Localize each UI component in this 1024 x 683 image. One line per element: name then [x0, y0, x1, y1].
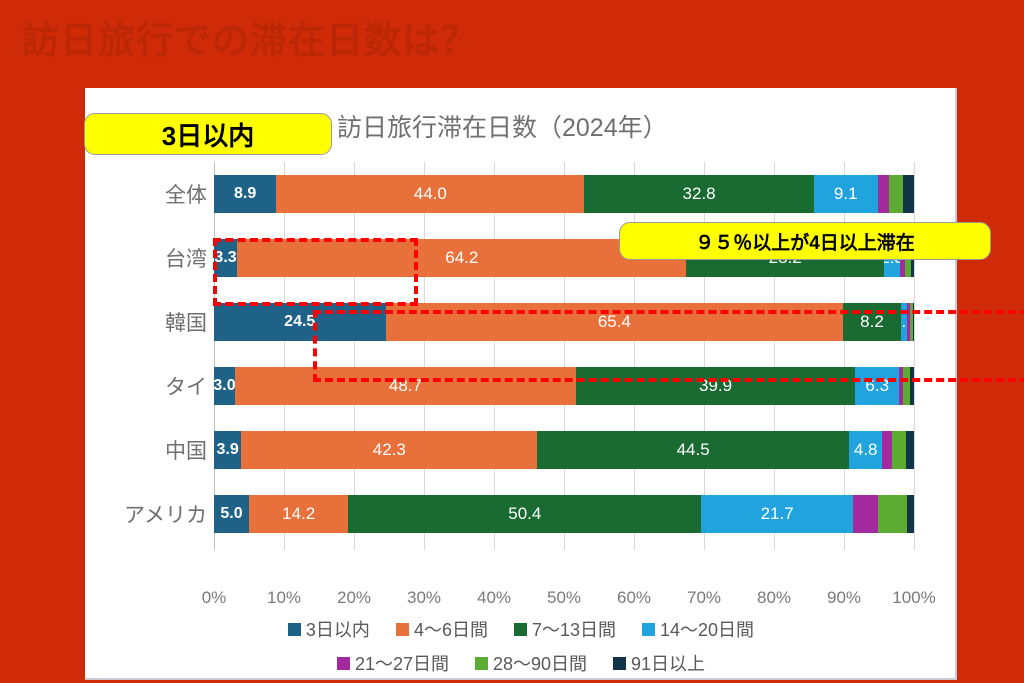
- stacked-bar[interactable]: 5.014.250.421.7: [214, 495, 914, 533]
- stacked-bar[interactable]: 24.565.48.20.9: [214, 303, 914, 341]
- legend-line: 3日以内4〜6日間7〜13日間14〜20日間: [85, 616, 957, 642]
- bar-segment[interactable]: [853, 495, 878, 533]
- x-tick-label: 10%: [267, 588, 301, 608]
- bar-segment[interactable]: [882, 431, 892, 469]
- bar-segment[interactable]: 39.9: [576, 367, 855, 405]
- bar-row-label: アメリカ: [95, 482, 207, 546]
- bar-row: 中国3.942.344.54.8: [85, 418, 957, 482]
- legend-item[interactable]: 3日以内: [288, 616, 370, 642]
- bar-segment[interactable]: [878, 495, 907, 533]
- bar-segment[interactable]: 50.4: [348, 495, 701, 533]
- bar-segment[interactable]: 3.3: [214, 239, 237, 277]
- chart-title: 訪日旅行滞在日数（2024年）: [337, 108, 668, 144]
- x-tick-label: 40%: [477, 588, 511, 608]
- legend-item[interactable]: 14〜20日間: [642, 616, 754, 642]
- x-tick-label: 0%: [202, 588, 227, 608]
- legend-label: 14〜20日間: [660, 616, 754, 642]
- bar-segment[interactable]: 44.0: [276, 175, 584, 213]
- bar-segment[interactable]: 5.0: [214, 495, 249, 533]
- x-tick-label: 70%: [687, 588, 721, 608]
- legend-label: 28〜90日間: [493, 650, 587, 676]
- slide-title: 訪日旅行での滞在日数は？: [22, 10, 478, 64]
- bar-segment[interactable]: 14.2: [249, 495, 348, 533]
- chart-panel: 3日以内 訪日旅行滞在日数（2024年） 全体8.944.032.89.1台湾3…: [85, 88, 957, 680]
- legend: 3日以内4〜6日間7〜13日間14〜20日間21〜27日間28〜90日間91日以…: [85, 616, 957, 683]
- x-tick-label: 30%: [407, 588, 441, 608]
- legend-label: 3日以内: [306, 616, 370, 642]
- legend-swatch-icon: [642, 623, 655, 636]
- bar-segment[interactable]: 44.5: [537, 431, 849, 469]
- bar-segment[interactable]: [906, 431, 914, 469]
- bar-row-label: 韓国: [95, 290, 207, 354]
- x-tick-label: 80%: [757, 588, 791, 608]
- legend-line: 21〜27日間28〜90日間91日以上: [85, 650, 957, 676]
- bar-segment[interactable]: 42.3: [241, 431, 537, 469]
- legend-swatch-icon: [337, 657, 350, 670]
- bar-segment[interactable]: 32.8: [584, 175, 814, 213]
- bar-segment[interactable]: [913, 303, 914, 341]
- bar-segment[interactable]: [903, 175, 914, 213]
- bar-row-label: 中国: [95, 418, 207, 482]
- x-tick-label: 50%: [547, 588, 581, 608]
- bar-segment[interactable]: [878, 175, 889, 213]
- bar-segment[interactable]: [892, 431, 905, 469]
- legend-item[interactable]: 91日以上: [613, 650, 705, 676]
- stacked-bar[interactable]: 3.942.344.54.8: [214, 431, 914, 469]
- bar-row: タイ3.048.739.96.3: [85, 354, 957, 418]
- legend-swatch-icon: [288, 623, 301, 636]
- chart-heading: 3日以内 訪日旅行滞在日数（2024年）: [85, 100, 955, 148]
- bar-segment[interactable]: 6.3: [855, 367, 899, 405]
- callout-3days: 3日以内: [84, 113, 332, 155]
- bar-segment[interactable]: 9.1: [814, 175, 878, 213]
- legend-label: 21〜27日間: [355, 650, 449, 676]
- stacked-bar[interactable]: 3.048.739.96.3: [214, 367, 914, 405]
- legend-item[interactable]: 21〜27日間: [337, 650, 449, 676]
- bar-row: 全体8.944.032.89.1: [85, 162, 957, 226]
- x-tick-label: 60%: [617, 588, 651, 608]
- legend-swatch-icon: [475, 657, 488, 670]
- bar-row-label: 全体: [95, 162, 207, 226]
- bar-rows: 全体8.944.032.89.1台湾3.364.228.22.3韓国24.565…: [85, 162, 957, 550]
- legend-item[interactable]: 7〜13日間: [514, 616, 616, 642]
- bar-row: アメリカ5.014.250.421.7: [85, 482, 957, 546]
- legend-swatch-icon: [514, 623, 527, 636]
- bar-segment[interactable]: 8.2: [843, 303, 900, 341]
- x-axis-ticks: 0%10%20%30%40%50%60%70%80%90%100%: [214, 588, 914, 618]
- bar-segment[interactable]: 3.0: [214, 367, 235, 405]
- legend-label: 7〜13日間: [532, 616, 616, 642]
- bar-segment[interactable]: 24.5: [214, 303, 386, 341]
- bar-row-label: 台湾: [95, 226, 207, 290]
- bar-row-label: タイ: [95, 354, 207, 418]
- legend-item[interactable]: 28〜90日間: [475, 650, 587, 676]
- bar-segment[interactable]: [907, 495, 914, 533]
- x-tick-label: 90%: [827, 588, 861, 608]
- bar-segment[interactable]: [903, 367, 910, 405]
- legend-swatch-icon: [613, 657, 626, 670]
- bar-segment[interactable]: [889, 175, 904, 213]
- bar-segment[interactable]: 4.8: [849, 431, 883, 469]
- bar-segment[interactable]: 65.4: [386, 303, 844, 341]
- legend-label: 4〜6日間: [414, 616, 488, 642]
- bar-segment[interactable]: 3.9: [214, 431, 241, 469]
- legend-item[interactable]: 4〜6日間: [396, 616, 488, 642]
- stacked-bar[interactable]: 8.944.032.89.1: [214, 175, 914, 213]
- bar-segment[interactable]: 48.7: [235, 367, 576, 405]
- bar-segment[interactable]: 21.7: [701, 495, 853, 533]
- x-tick-label: 20%: [337, 588, 371, 608]
- callout-95-percent: ９５％以上が4日以上滞在: [619, 222, 991, 260]
- plot-area: 全体8.944.032.89.1台湾3.364.228.22.3韓国24.565…: [85, 150, 957, 580]
- bar-row: 韓国24.565.48.20.9: [85, 290, 957, 354]
- legend-swatch-icon: [396, 623, 409, 636]
- bar-segment[interactable]: 8.9: [214, 175, 276, 213]
- x-tick-label: 100%: [892, 588, 935, 608]
- bar-segment[interactable]: [910, 367, 914, 405]
- legend-label: 91日以上: [631, 650, 705, 676]
